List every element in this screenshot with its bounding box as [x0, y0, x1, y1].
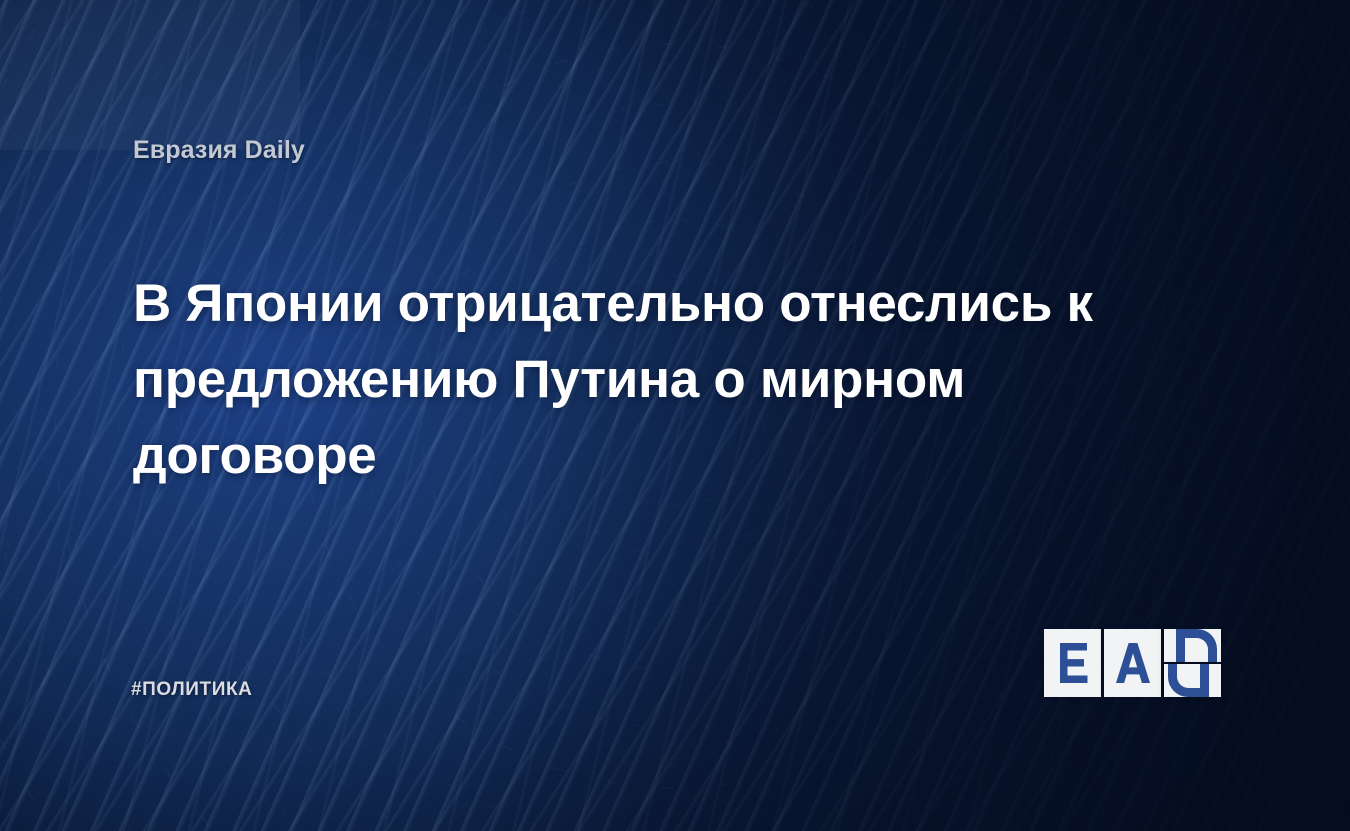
publisher-kicker: Евразия Daily — [133, 136, 305, 165]
news-cover-card: Евразия Daily В Японии отрицательно отне… — [0, 0, 1350, 831]
logo-tile-e — [1044, 629, 1101, 697]
logo-tile-a — [1104, 629, 1161, 697]
logo-column-d-stack — [1164, 629, 1221, 697]
eadaily-logo[interactable] — [1044, 629, 1222, 697]
page-title: В Японии отрицательно отнеслись к предло… — [133, 266, 1093, 494]
letter-a-icon — [1114, 641, 1152, 685]
category-tag[interactable]: #ПОЛИТИКА — [131, 679, 253, 701]
logo-tile-d-top — [1164, 629, 1221, 662]
logo-tile-d-bottom — [1164, 664, 1221, 697]
letter-e-icon — [1056, 641, 1090, 685]
